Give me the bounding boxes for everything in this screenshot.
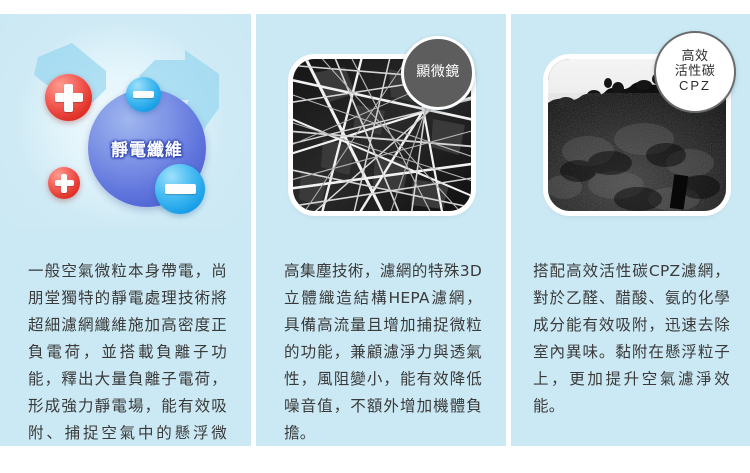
panel-electrostatic-fiber: 靜電纖維 一般空氣微粒本身帶電，尚朋堂獨特的靜電處理技術將超細濾網纖維施加高密度…	[0, 14, 251, 446]
badge-line: CPZ	[679, 79, 711, 94]
panel-activated-carbon: 高效 活性碳 CPZ 搭配高效活性碳CPZ濾網，對於乙醛、醋酸、氨的化學成分能有…	[511, 14, 750, 446]
badge-line: 活性碳	[675, 65, 716, 80]
ion-minus-small-icon	[126, 77, 161, 112]
badge-line: 高效	[681, 50, 708, 65]
electrostatic-fiber-illustration: 靜電纖維	[0, 14, 251, 230]
panel-hepa-filter: 顯微鏡 高集塵技術，濾網的特殊3D立體織造結構HEPA濾網，具備高流量且增加捕捉…	[256, 14, 506, 446]
panel-body-text: 搭配高效活性碳CPZ濾網，對於乙醛、醋酸、氨的化學成分能有效吸附，迅速去除室內異…	[533, 258, 730, 420]
badge-microscope: 顯微鏡	[401, 36, 475, 110]
panel-body-text: 高集塵技術，濾網的特殊3D立體織造結構HEPA濾網，具備高流量且增加捕捉微粒的功…	[284, 258, 482, 447]
ion-plus-big-icon	[45, 74, 92, 121]
minus-bar	[133, 91, 154, 98]
plus-vertical-bar	[61, 174, 67, 193]
minus-bar	[165, 184, 196, 194]
ion-minus-big-icon	[155, 164, 205, 214]
feature-panels-container: 靜電纖維 一般空氣微粒本身帶電，尚朋堂獨特的靜電處理技術將超細濾網纖維施加高密度…	[0, 0, 750, 473]
sphere-label: 靜電纖維	[88, 136, 206, 161]
panel-body-text: 一般空氣微粒本身帶電，尚朋堂獨特的靜電處理技術將超細濾網纖維施加高密度正負電荷，…	[28, 258, 227, 447]
hepa-filter-artwork: 顯微鏡	[256, 14, 506, 230]
badge-carbon: 高效 活性碳 CPZ	[654, 31, 736, 113]
badge-line: 顯微鏡	[416, 65, 460, 81]
plus-vertical-bar	[64, 84, 73, 112]
activated-carbon-artwork: 高效 活性碳 CPZ	[511, 14, 750, 230]
ion-plus-small-icon	[48, 167, 80, 199]
